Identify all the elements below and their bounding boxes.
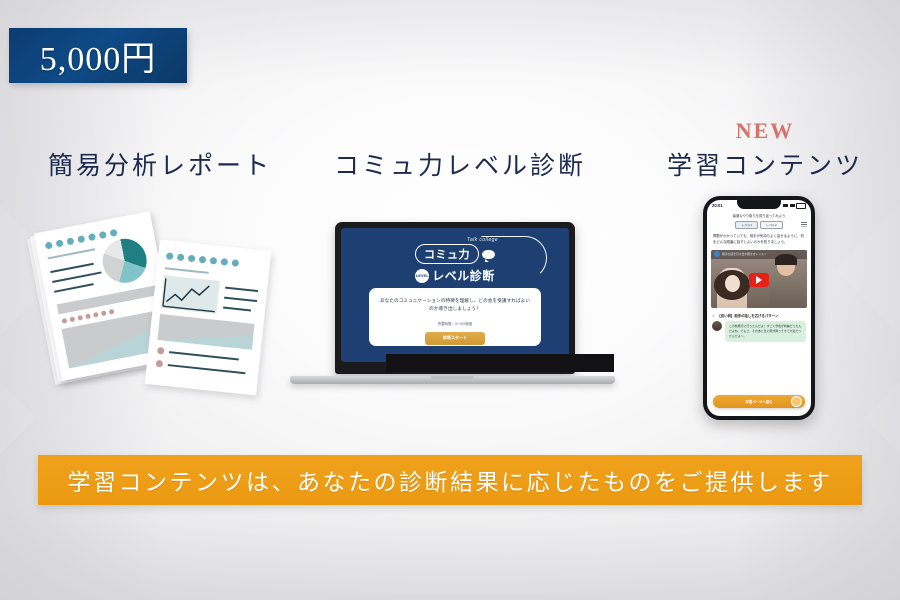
chevron-watermark-right-1 (835, 175, 900, 365)
wifi-icon (790, 204, 795, 208)
person-left (717, 268, 747, 308)
logo-row-2: LEVEL レベル診断 (341, 267, 569, 284)
rule (168, 364, 246, 374)
screen-card-text: あなたのコミュニケーションの特徴を理解し、どの会を受講すればよいのか導き出しまし… (379, 297, 531, 314)
heading-contents: 学習コンテンツ (650, 146, 880, 182)
learning-page-button-label: 学習ページへ進む (745, 399, 772, 404)
channel-avatar-icon (714, 251, 720, 257)
learning-page-button[interactable]: 学習ページへ進む (713, 395, 805, 408)
heading-diagnosis: コミュ力レベル診断 (325, 146, 595, 182)
phone-body-text: 問題がわかっていても、相手が気持ちよく話せるように、何をどんな順番に話すとよいの… (707, 232, 811, 250)
chat-message: この前旅行に行ったんだよ！すごく景色が綺麗だったんだよね。でもさ、そのあと急に雨… (707, 321, 811, 342)
line-chart-icon (161, 275, 220, 314)
start-diagnosis-button[interactable]: 診断スタート (425, 332, 485, 345)
rule (52, 271, 101, 283)
tab-level-2[interactable]: レベル2 (760, 221, 783, 229)
phone-page-title: 最適なやり取りを振り返ってみよう (707, 211, 811, 221)
laptop-base-notch (431, 376, 474, 379)
battery-icon (796, 203, 806, 209)
heading-report: 簡易分析レポート (40, 146, 280, 182)
menu-icon[interactable] (801, 222, 807, 227)
screen-logo: Talk college コミュ力 LEVEL レベル診断 (341, 237, 569, 284)
status-icons (783, 203, 806, 209)
logo-text-2: レベル診断 (432, 267, 495, 284)
bullet-dot (156, 360, 164, 368)
laptop-screen: Talk college コミュ力 LEVEL レベル診断 あなたのコミュニケー… (341, 228, 569, 362)
person-right (769, 266, 803, 308)
play-button-icon[interactable] (749, 273, 769, 287)
signal-icon (783, 204, 788, 208)
speech-bubble-icon (482, 250, 495, 259)
tab-level-1[interactable]: レベル1 (735, 221, 758, 229)
price-badge: 5,000円 (9, 28, 187, 83)
logo-row-1: コミュ力 (341, 244, 569, 264)
new-tag: NEW (650, 118, 880, 144)
rule (224, 297, 257, 302)
phone-section-heading: ✓ 【良い例】相手の話しを広げるパターン (707, 308, 811, 321)
rule (223, 307, 251, 312)
rule (50, 263, 94, 273)
rule (169, 351, 239, 360)
orange-banner-text: 学習コンテンツは、あなたの診断結果に応じたものをご提供します (68, 463, 833, 497)
laptop-bezel-bottom (386, 354, 614, 372)
orange-banner: 学習コンテンツは、あなたの診断結果に応じたものをご提供します (38, 455, 862, 505)
phone-mockup: 20:01 最適なやり取りを振り返ってみよう レベル1 レベル2 問題がわかって… (703, 196, 815, 420)
rule (165, 267, 209, 273)
phone-screen: 20:01 最適なやり取りを振り返ってみよう レベル1 レベル2 問題がわかって… (707, 200, 811, 416)
promo-banner-graphic: 5,000円 簡易分析レポート コミュ力レベル診断 NEW 学習コンテンツ (0, 0, 900, 600)
laptop-lid: Talk college コミュ力 LEVEL レベル診断 あなたのコミュニケー… (335, 222, 575, 374)
chevron-circle-icon (791, 396, 802, 407)
report-page-second (145, 240, 272, 396)
screen-card: あなたのコミュニケーションの特徴を理解し、どの会を受講すればよいのか導き出しまし… (369, 288, 541, 346)
phone-notch (737, 200, 781, 209)
status-time: 20:01 (712, 203, 723, 208)
check-icon: ✓ (712, 313, 715, 318)
screen-card-subtext: 所要時間：3〜5分程度 (379, 321, 531, 326)
rule (48, 248, 95, 259)
section-title: 【良い例】相手の話しを広げるパターン (717, 313, 778, 318)
rule (54, 283, 94, 293)
level-badge: LEVEL (415, 269, 429, 283)
chevron-watermark-right-2 (864, 370, 900, 466)
logo-text-1: コミュ力 (415, 244, 479, 264)
bullet-dot (157, 347, 165, 355)
rule (225, 287, 258, 292)
video-title: 相手の話を引き出す聞き方レッスン (722, 252, 767, 256)
brand-name: Talk college (396, 237, 569, 243)
avatar (712, 321, 722, 331)
phone-tab-bar: レベル1 レベル2 (707, 221, 811, 232)
price-badge-label: 5,000円 (40, 31, 157, 80)
video-thumbnail[interactable]: 相手の話を引き出す聞き方レッスン (711, 250, 807, 308)
report-illustration (28, 205, 293, 400)
laptop-mockup: Talk college コミュ力 LEVEL レベル診断 あなたのコミュニケー… (290, 222, 615, 392)
chat-bubble-text: この前旅行に行ったんだよ！すごく景色が綺麗だったんだよね。でもさ、そのあと急に雨… (725, 321, 806, 342)
pie-chart (99, 235, 151, 287)
dot-row-teal (166, 252, 239, 267)
